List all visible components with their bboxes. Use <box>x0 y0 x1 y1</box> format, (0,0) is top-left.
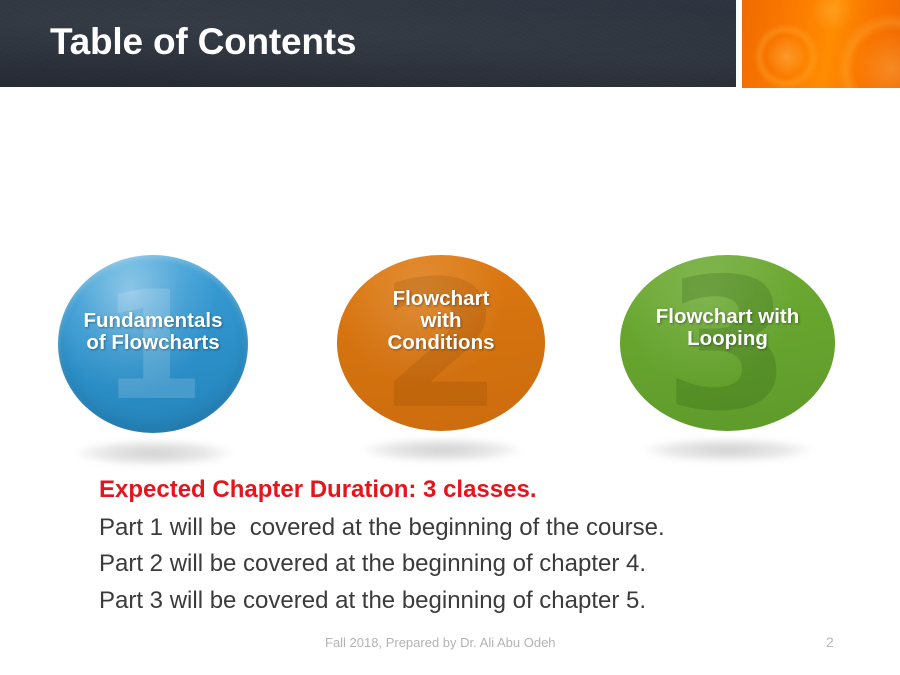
section-label-line: Flowchart with <box>620 306 835 328</box>
section-label-line: of Flowcharts <box>58 332 248 354</box>
section-label-line: with <box>337 310 545 332</box>
footer-page-number: 2 <box>826 634 834 650</box>
section-drop-shadow <box>644 438 812 462</box>
section-label-line: Conditions <box>337 332 545 354</box>
body-line-part3: Part 3 will be covered at the beginning … <box>99 583 859 619</box>
body-text-block: Expected Chapter Duration: 3 classes. Pa… <box>99 478 859 619</box>
section-drop-shadow <box>363 438 521 462</box>
section-label-3: Flowchart with Looping <box>620 306 835 350</box>
body-heading: Expected Chapter Duration: 3 classes. <box>99 478 859 502</box>
body-line-part1: Part 1 will be covered at the beginning … <box>99 510 859 546</box>
header-accent-block <box>742 0 900 88</box>
slide: Table of Contents 1 Fundamentals of Flow… <box>0 0 900 675</box>
body-line-part2: Part 2 will be covered at the beginning … <box>99 546 859 582</box>
section-label-line: Flowchart <box>337 288 545 310</box>
page-title: Table of Contents <box>50 21 356 63</box>
section-drop-shadow <box>76 440 232 466</box>
section-label-line: Looping <box>620 328 835 350</box>
section-label-line: Fundamentals <box>58 310 248 332</box>
section-label-1: Fundamentals of Flowcharts <box>58 310 248 354</box>
footer-note: Fall 2018, Prepared by Dr. Ali Abu Odeh <box>325 635 556 650</box>
sections-group: 1 Fundamentals of Flowcharts 2 Flowchart… <box>0 250 900 470</box>
section-label-2: Flowchart with Conditions <box>337 288 545 354</box>
